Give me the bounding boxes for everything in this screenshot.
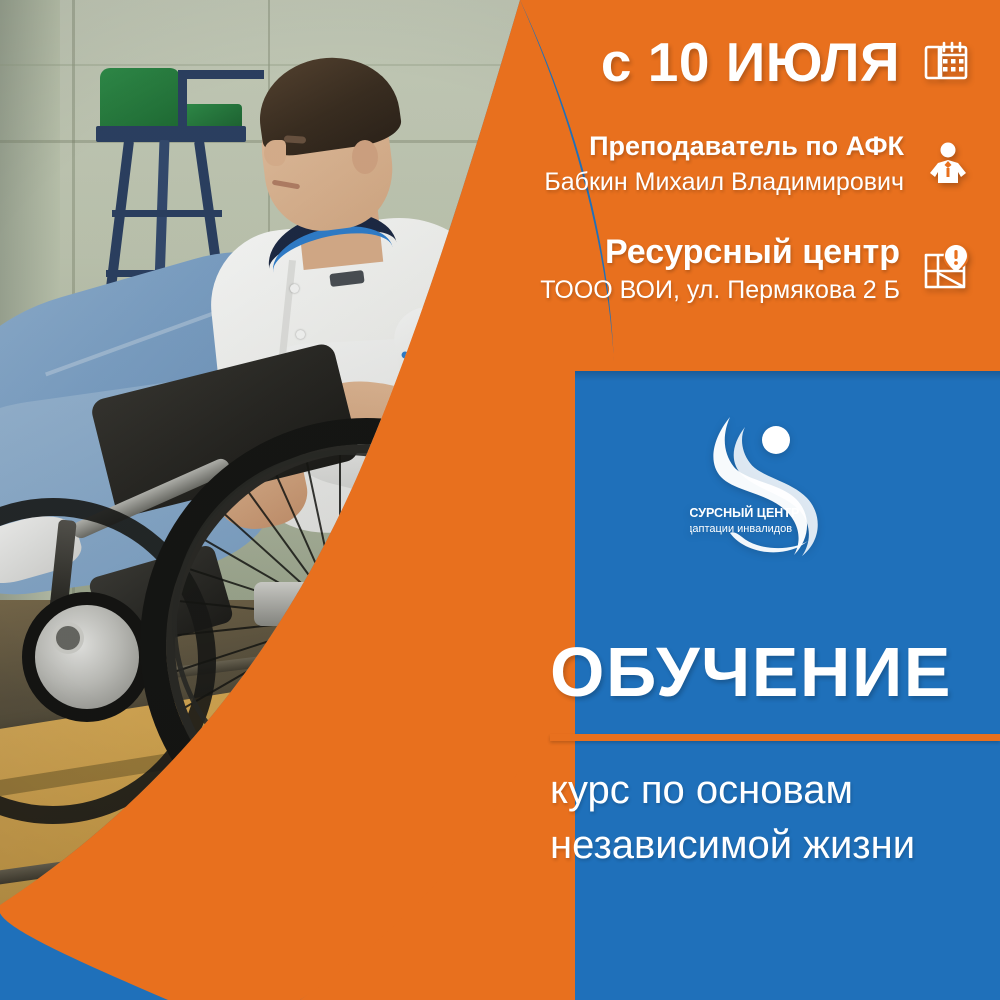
blue-panel-top-shadow: [575, 371, 1000, 381]
ramp-rail-lower: [20, 884, 449, 942]
venue-row: Ресурсный центр ТООО ВОИ, ул. Пермякова …: [434, 232, 974, 306]
title-divider: [550, 734, 1000, 741]
poster-root: с 10 ИЮЛЯ Преподаватель п: [0, 0, 1000, 1000]
person-with-tie-icon: [922, 138, 974, 190]
event-date: с 10 ИЮЛЯ: [601, 34, 900, 92]
calendar-icon: [918, 35, 974, 91]
resource-center-logo: РЕСУРСНЫЙ ЦЕНТР адаптации инвалидов: [690, 405, 840, 560]
logo-line-2: адаптации инвалидов: [690, 523, 792, 535]
wheelchair-backrest: [382, 378, 572, 595]
wheel-hub: [304, 568, 376, 640]
wooden-ramp-lower: [0, 824, 549, 1000]
teacher-name: Бабкин Михаил Владимирович: [544, 166, 904, 199]
teacher-role: Преподаватель по АФК: [544, 130, 904, 164]
map-location-pin-icon: [918, 241, 974, 297]
venue-title: Ресурсный центр: [540, 232, 900, 273]
page-subtitle: курс по основам независимой жизни: [550, 763, 980, 873]
event-info-block: с 10 ИЮЛЯ Преподаватель п: [434, 34, 974, 306]
date-row: с 10 ИЮЛЯ: [434, 34, 974, 92]
venue-address: ТООО ВОИ, ул. Пермякова 2 Б: [540, 274, 900, 307]
page-title: ОБУЧЕНИЕ: [550, 637, 952, 707]
teacher-row: Преподаватель по АФК Бабкин Михаил Влади…: [434, 130, 974, 198]
logo-line-1: РЕСУРСНЫЙ ЦЕНТР: [690, 505, 799, 520]
ramp-support-post: [110, 930, 128, 1000]
